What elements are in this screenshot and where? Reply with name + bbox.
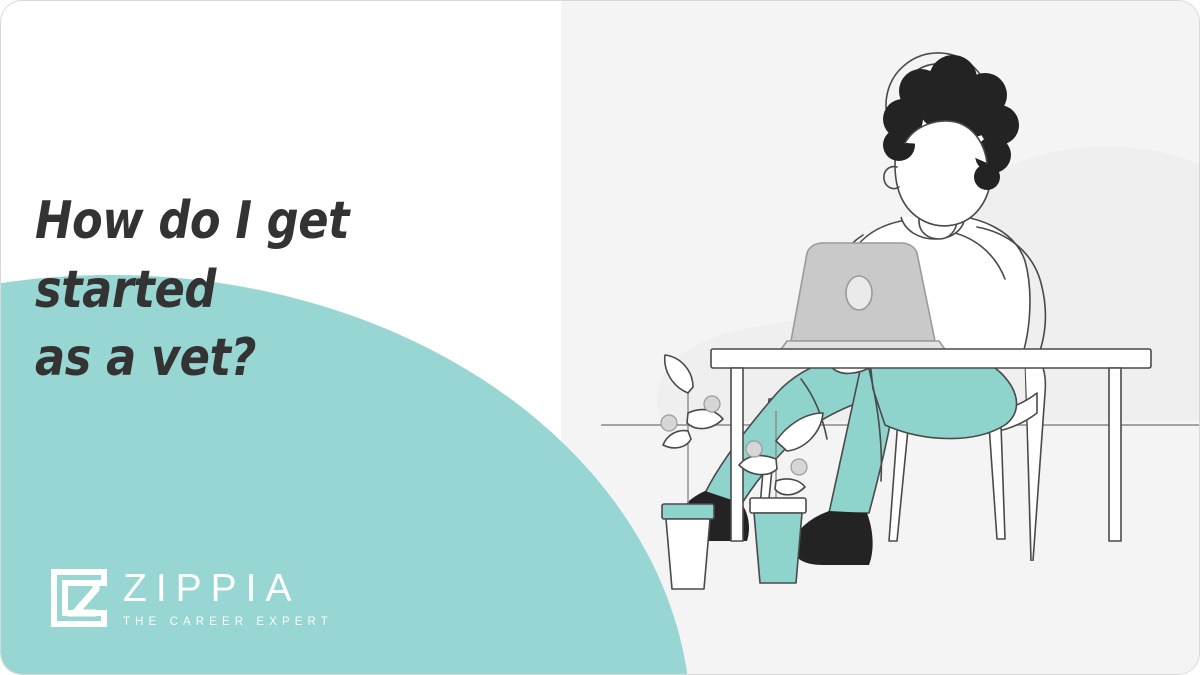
illustration-person-working-at-desk: .ln { fill:none; stroke:#4a4a4a; stroke-… [601,21,1200,621]
pot-body-left [666,519,710,589]
page-title: How do I get started as a vet? [35,187,517,393]
zippia-tagline: THE CAREER EXPERT [123,617,333,629]
potted-plant-left [661,355,723,589]
pot-rim-left [662,504,714,519]
zippia-career-card: How do I get started as a vet? ZIPPIA TH… [0,0,1200,675]
zippia-z-mark-icon [51,569,107,627]
zippia-logo[interactable]: ZIPPIA THE CAREER EXPERT [51,567,333,629]
shoe-right [793,511,873,565]
pot-rim-right [750,498,806,513]
pot-body-right [754,513,802,583]
zippia-wordmark: ZIPPIA [123,569,333,608]
zippia-logo-text: ZIPPIA THE CAREER EXPERT [123,567,333,629]
